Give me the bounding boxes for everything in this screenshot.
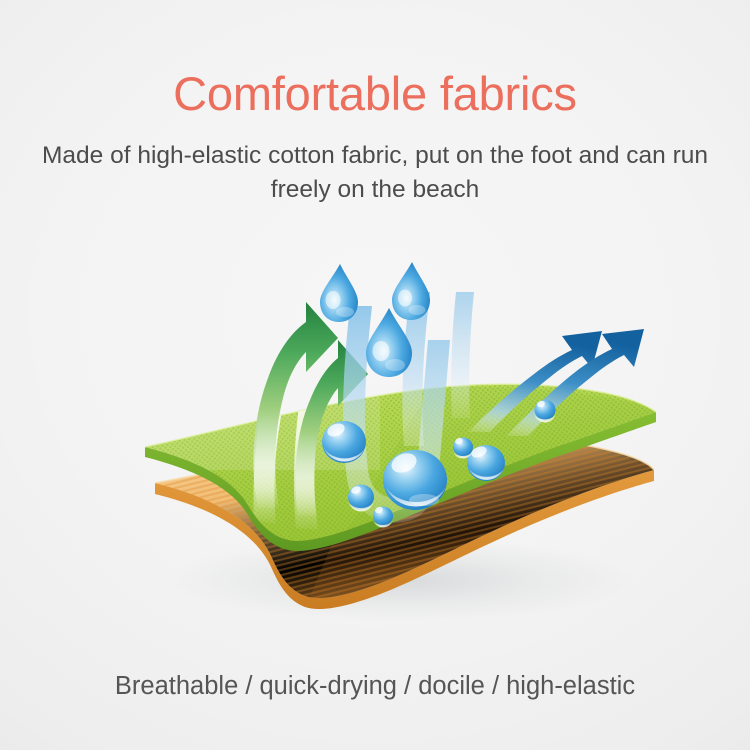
- bead-droplet-medium-1: [322, 421, 366, 463]
- airflow-arrow-green-1: [253, 302, 338, 508]
- bead-droplet-medium-2: [467, 444, 505, 481]
- bead-droplet-small-3: [453, 437, 473, 459]
- tan-woven-base-layer: [130, 420, 690, 620]
- evaporating-water-droplets: [320, 262, 430, 377]
- rising-droplet-2: [392, 262, 430, 320]
- airflow-arrow-green-2: [295, 340, 368, 516]
- rising-droplet-3: [366, 308, 412, 377]
- beaded-water-droplets: [322, 400, 556, 528]
- bead-droplet-small-4: [534, 400, 556, 423]
- bead-droplet-large: [383, 450, 447, 510]
- evaporation-vapour-trails: [343, 292, 474, 523]
- green-mesh-top-layer: [130, 380, 690, 560]
- airflow-ribbon-trails: [253, 398, 322, 530]
- airflow-arrow-blue-2: [506, 329, 644, 436]
- rising-droplet-1: [320, 264, 358, 322]
- page-subtitle: Made of high-elastic cotton fabric, put …: [28, 139, 722, 209]
- bead-droplet-small-2: [373, 506, 393, 528]
- product-feature-card: Comfortable fabrics Made of high-elastic…: [0, 0, 750, 750]
- airflow-arrow-blue-1: [468, 331, 602, 432]
- illustration-drop-shadow: [165, 538, 635, 622]
- bead-droplet-small-1: [348, 485, 374, 512]
- feature-caption: Breathable / quick-drying / docile / hig…: [0, 672, 750, 701]
- page-title: Comfortable fabrics: [0, 69, 750, 120]
